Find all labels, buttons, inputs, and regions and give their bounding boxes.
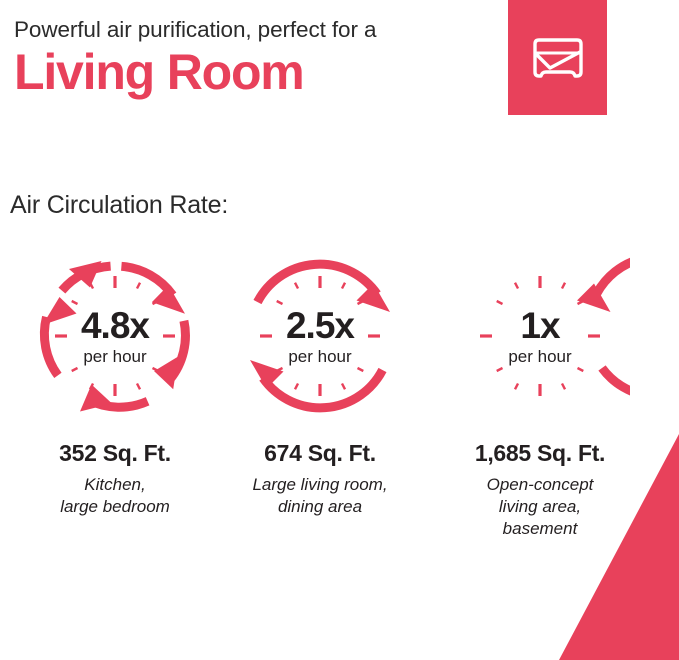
area-description-3-line2: living area,	[427, 496, 653, 518]
area-description-2-line2: dining area	[207, 496, 433, 518]
gauges-row: 4.8x per hour	[0, 246, 679, 426]
area-description-1: Kitchen, large bedroom	[2, 474, 228, 519]
area-description-3-line1: Open-concept	[427, 474, 653, 496]
area-description-2-line1: Large living room,	[207, 474, 433, 496]
area-description-1-line2: large bedroom	[2, 496, 228, 518]
headline-subtitle: Powerful air purification, perfect for a	[14, 16, 494, 43]
gauge-arcs-1	[25, 246, 205, 426]
page-title: Living Room	[14, 45, 494, 99]
area-description-3-line3: basement	[427, 518, 653, 540]
section-title: Air Circulation Rate:	[10, 191, 228, 220]
gauge-arcs-3	[450, 246, 630, 426]
gauge-circulation-1: 4.8x per hour	[25, 246, 205, 426]
area-description-3: Open-concept living area, basement	[427, 474, 653, 541]
gauge-circulation-3: 1x per hour	[450, 246, 630, 426]
gauge-arcs-2	[230, 246, 410, 426]
caption-3: 1,685 Sq. Ft. Open-concept living area, …	[427, 440, 653, 541]
room-icon-badge	[508, 0, 607, 115]
area-label-1: 352 Sq. Ft.	[2, 440, 228, 468]
area-description-1-line1: Kitchen,	[2, 474, 228, 496]
caption-1: 352 Sq. Ft. Kitchen, large bedroom	[2, 440, 228, 518]
gauge-circulation-2: 2.5x per hour	[230, 246, 410, 426]
header-block: Powerful air purification, perfect for a…	[14, 16, 494, 99]
area-label-2: 674 Sq. Ft.	[207, 440, 433, 468]
area-description-2: Large living room, dining area	[207, 474, 433, 519]
area-label-3: 1,685 Sq. Ft.	[427, 440, 653, 468]
caption-2: 674 Sq. Ft. Large living room, dining ar…	[207, 440, 433, 518]
sofa-icon	[527, 27, 589, 89]
